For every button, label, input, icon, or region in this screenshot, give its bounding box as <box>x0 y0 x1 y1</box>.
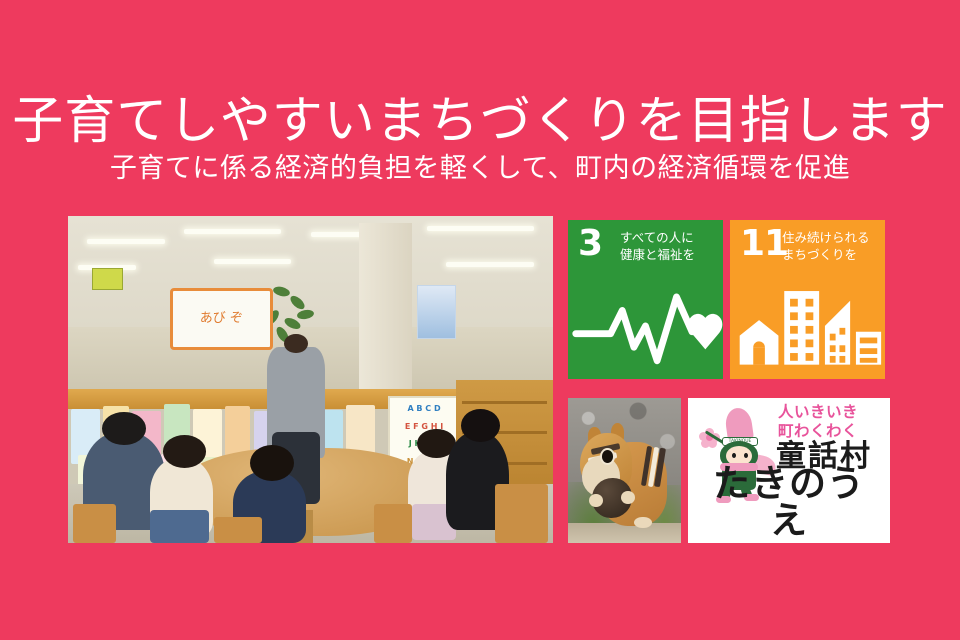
poster-canvas: 子育てしやすいまちづくりを目指します 子育てに係る経済的負担を軽くして、町内の経… <box>0 0 960 640</box>
seated-adult-left-head <box>102 412 146 445</box>
chipmunk-paw-left <box>589 494 603 507</box>
ceiling-light <box>87 239 165 244</box>
sdg-11-number: 11 <box>740 226 788 262</box>
ceiling-light <box>446 262 533 267</box>
sdg-3-text: すべての人に 健康と福祉を <box>620 230 720 264</box>
pillar <box>359 223 412 393</box>
library-children-photo: あび ぞ <box>68 216 553 543</box>
chair <box>374 504 413 543</box>
logo-town-name: たきのうえ <box>696 465 882 539</box>
seated-child-b-head <box>250 445 294 481</box>
seated-adult-right-head <box>461 409 500 442</box>
library-sign-text: あび ぞ <box>200 312 243 326</box>
heartbeat-heart-icon <box>568 276 723 371</box>
sdg-11-line2: まちづくりを <box>782 247 882 264</box>
sdg-3-line1: すべての人に <box>620 230 720 247</box>
town-logo: TAKINOUE 人いきいき 町わくわく 童話村 たきのうえ <box>688 398 890 543</box>
seated-child-a-head <box>163 435 207 468</box>
sdg-3-line2: 健康と福祉を <box>620 247 720 264</box>
ceiling-light <box>214 259 292 264</box>
chair <box>495 484 548 543</box>
chipmunk-foot <box>634 517 652 529</box>
seated-child-a-pants <box>150 510 208 543</box>
page-title: 子育てしやすいまちづくりを目指します <box>0 96 960 147</box>
wall-poster <box>417 285 455 339</box>
ceiling-light <box>184 229 281 234</box>
chipmunk-photo <box>568 398 681 543</box>
sdg-11-line1: 住み続けられる <box>782 230 882 247</box>
sdg-badge-3: 3 すべての人に 健康と福祉を <box>568 220 723 379</box>
chair <box>73 504 117 543</box>
sdg-badge-11: 11 住み続けられる まちづくりを <box>730 220 885 379</box>
library-sign: あび ぞ <box>170 288 273 350</box>
library-scene: あび ぞ <box>68 216 553 543</box>
ground <box>568 523 681 543</box>
sdg-11-text: 住み続けられる まちづくりを <box>782 230 882 264</box>
ceiling-light <box>427 226 534 231</box>
logo-catch-line2: 町わくわく <box>754 422 882 441</box>
cityscape-icon <box>730 276 885 371</box>
logo-catchphrase: 人いきいき 町わくわく <box>754 403 882 440</box>
exit-sign <box>92 268 123 290</box>
chair <box>214 517 263 543</box>
logo-catch-line1: 人いきいき <box>754 403 882 422</box>
sdg-3-number: 3 <box>578 226 602 262</box>
page-subtitle: 子育てに係る経済的負担を軽くして、町内の経済循環を促進 <box>0 155 960 182</box>
chipmunk-paw-right <box>621 491 635 504</box>
